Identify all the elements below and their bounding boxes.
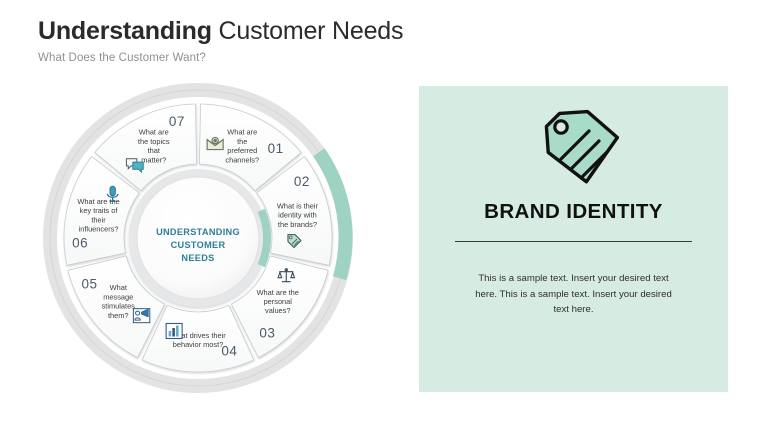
tag-icon xyxy=(519,104,629,196)
header: Understanding Customer Needs What Does t… xyxy=(38,16,558,64)
brand-panel-title: BRAND IDENTITY xyxy=(419,200,728,224)
segment-01-text: What arethepreferredchannels? xyxy=(225,128,259,165)
segment-04-number: 04 xyxy=(221,344,237,359)
segment-02-number: 02 xyxy=(294,174,310,189)
segment-06-number: 06 xyxy=(72,235,88,250)
page-subtitle: What Does the Customer Want? xyxy=(38,52,558,64)
segment-07-number: 07 xyxy=(169,114,185,129)
megaphone-person-icon xyxy=(133,309,149,323)
wheel-hub: UNDERSTANDING CUSTOMER NEEDS xyxy=(129,169,267,307)
segment-05-number: 05 xyxy=(81,276,97,291)
brand-panel-body: This is a sample text. Insert your desir… xyxy=(475,271,672,318)
customer-needs-wheel: What arethepreferredchannels?01 What is … xyxy=(42,82,354,394)
bar-chart-icon xyxy=(166,323,182,338)
brand-tag-icon xyxy=(419,104,728,201)
page-title-bold: Understanding xyxy=(38,17,212,45)
brand-identity-panel: BRAND IDENTITY This is a sample text. In… xyxy=(419,86,728,392)
hub-line-3: NEEDS xyxy=(181,253,214,263)
page-title: Understanding Customer Needs xyxy=(38,16,558,46)
segment-03-number: 03 xyxy=(259,325,275,340)
segment-02-text: What is theiridentity withthe brands? xyxy=(277,202,319,229)
brand-panel-divider xyxy=(455,241,692,242)
wheel-svg: What arethepreferredchannels?01 What is … xyxy=(42,82,354,394)
hub-line-1: UNDERSTANDING xyxy=(156,227,240,237)
page-title-rest: Customer Needs xyxy=(212,17,404,45)
segment-01-number: 01 xyxy=(268,141,284,156)
hub-line-2: CUSTOMER xyxy=(171,240,226,250)
